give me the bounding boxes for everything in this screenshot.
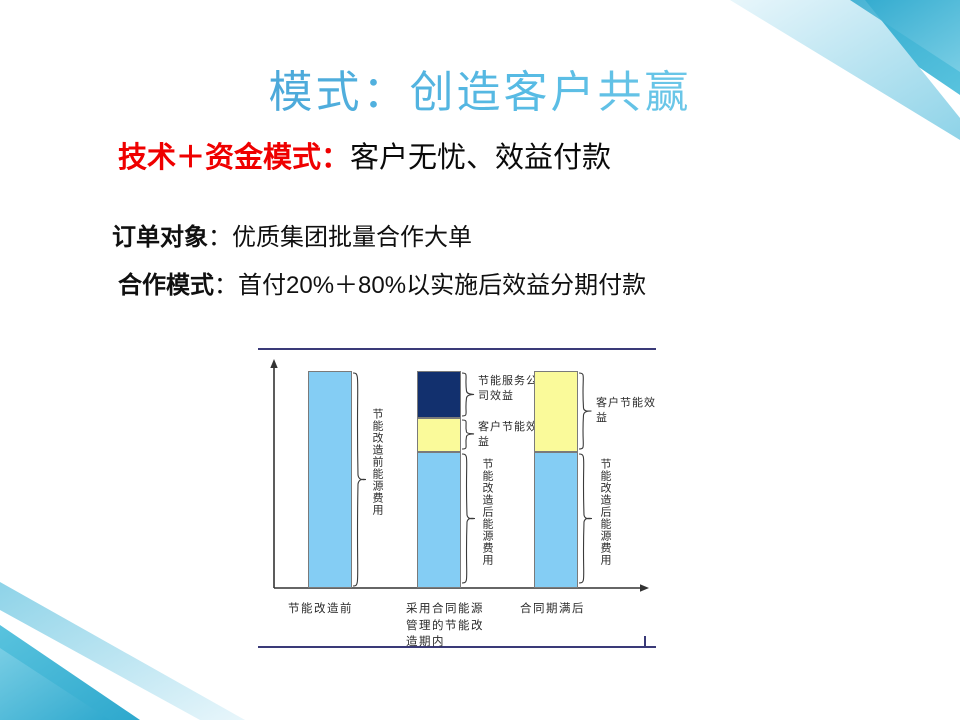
bar-2-brace-customer <box>461 418 475 452</box>
bar-2-brace-label-customer-text: 客户节能效益 <box>478 420 538 448</box>
bar-1-brace <box>352 371 368 588</box>
subtitle-rest: 客户无忧、效益付款 <box>350 142 611 174</box>
bar-3-brace-after <box>578 452 594 588</box>
bar-2-segment-customer-benefit <box>417 418 461 452</box>
bar-3-brace-label-after: 节能改造后能源费用 <box>598 458 611 582</box>
bar-3-segment-customer-benefit <box>534 371 578 452</box>
bar-3-brace-label-customer-text: 客户节能效益 <box>596 396 656 424</box>
corner-decoration-bottom-left <box>0 570 260 720</box>
bar-1-brace-label: 节能改造前能源费用 <box>370 408 383 558</box>
body-line-mode: 合作模式：首付20%＋80%以实施后效益分期付款 <box>118 272 646 300</box>
bar-2-brace-label-esco-text: 节能服务公司效益 <box>478 374 538 402</box>
chart-category-label-2: 采用合同能源管理的节能改造期内 <box>406 600 492 650</box>
bar-3-brace-customer <box>578 371 593 452</box>
bar-2-brace-after <box>461 452 477 588</box>
bar-2-segment-esco-benefit <box>417 371 461 418</box>
body-line-mode-value: 首付20%＋80%以实施后效益分期付款 <box>238 272 646 299</box>
subtitle-highlight: 技术＋资金模式： <box>118 142 350 174</box>
bar-2-segment-energy-cost-after <box>417 452 461 588</box>
body-line-order-label: 订单对象 <box>112 224 208 251</box>
page-title: 模式：创造客户共赢 <box>0 56 960 120</box>
chart-category-label-1: 节能改造前 <box>288 600 380 617</box>
subtitle: 技术＋资金模式：客户无忧、效益付款 <box>118 142 611 175</box>
emc-benefit-chart: 节能改造前能源费用 节能服务公司效益 客户节能效益 节能改造后能源费用 客户节能… <box>258 348 656 654</box>
body-line-order-separator: ： <box>208 224 232 251</box>
body-line-order-value: 优质集团批量合作大单 <box>232 224 472 251</box>
chart-category-label-3: 合同期满后 <box>520 600 610 617</box>
bar-1-segment-energy-cost-before <box>308 371 352 588</box>
bar-2-brace-label-customer: 客户节能效益 <box>478 420 538 450</box>
bar-2-brace-esco <box>461 371 475 418</box>
body-line-mode-separator: ： <box>214 272 238 299</box>
bar-2-brace-label-after: 节能改造后能源费用 <box>480 458 493 582</box>
body-line-mode-label: 合作模式 <box>118 272 214 299</box>
bar-3-segment-energy-cost-after <box>534 452 578 588</box>
body-line-order: 订单对象：优质集团批量合作大单 <box>112 224 472 252</box>
bar-2-brace-label-esco: 节能服务公司效益 <box>478 374 538 404</box>
slide-canvas: 模式：创造客户共赢 技术＋资金模式：客户无忧、效益付款 订单对象：优质集团批量合… <box>0 0 960 720</box>
bar-3-brace-label-customer: 客户节能效益 <box>596 396 656 426</box>
